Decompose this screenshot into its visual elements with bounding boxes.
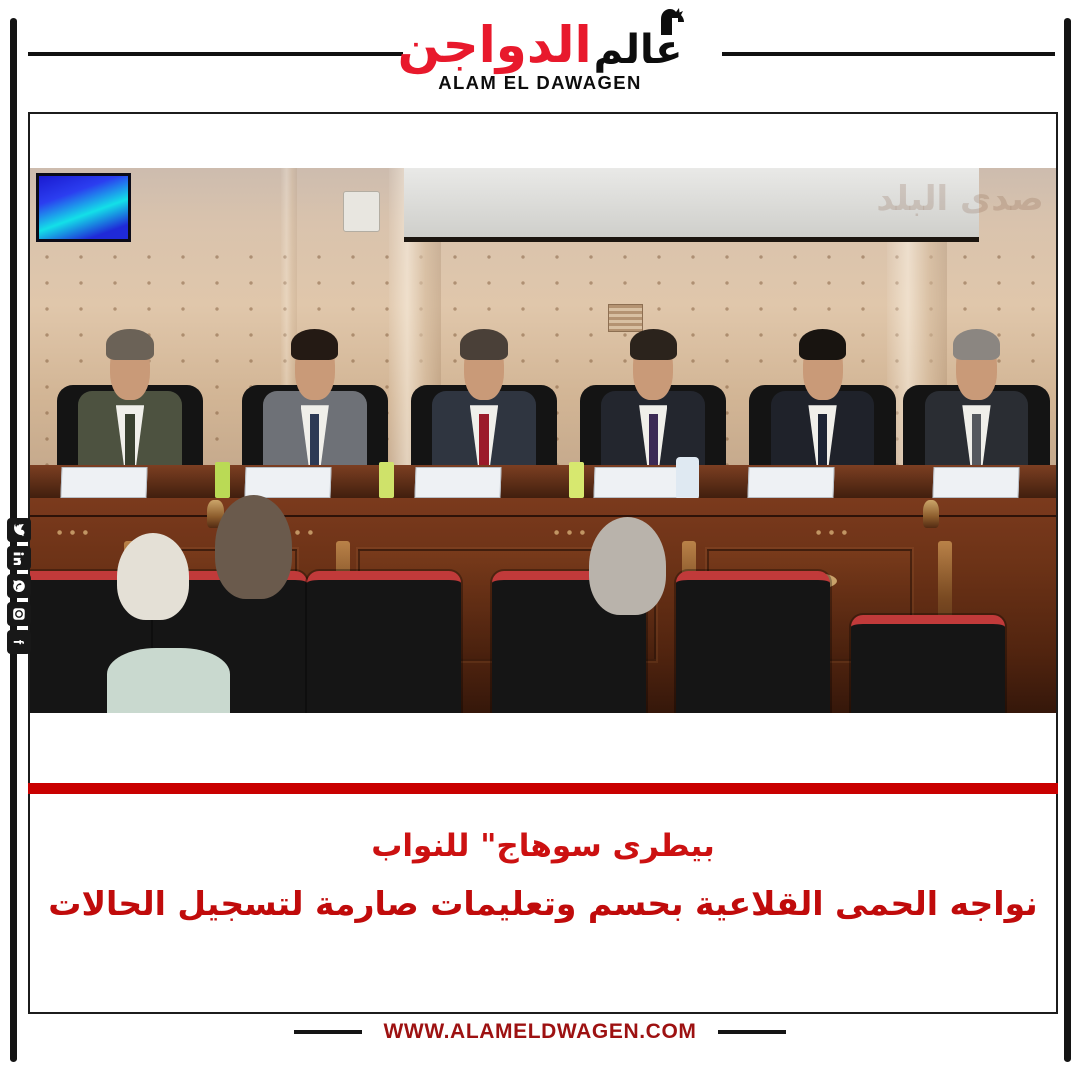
photo-audience-person — [117, 533, 189, 620]
brand-logo[interactable]: الدواجن عالم ALAM EL DAWAGEN — [390, 6, 690, 94]
right-frame-rail — [1064, 18, 1071, 1062]
footer-website-url[interactable]: WWW.ALAMELDWAGEN.COM — [384, 1020, 697, 1044]
footer: WWW.ALAMELDWAGEN.COM — [0, 1020, 1080, 1044]
photo-audience-person — [215, 495, 292, 599]
photo-sanitizer — [676, 457, 699, 501]
photo-bottle — [215, 462, 230, 497]
whatsapp-icon[interactable] — [7, 574, 31, 598]
social-post-card: الدواجن عالم ALAM EL DAWAGEN صدى ا — [0, 0, 1080, 1080]
photo-audience-person — [107, 648, 230, 713]
photo-bottle — [569, 462, 584, 497]
photo-panel-row — [30, 332, 1056, 474]
logo-latin-text: ALAM EL DAWAGEN — [390, 72, 690, 94]
photo-nameplate — [932, 467, 1019, 498]
photo-carving — [51, 526, 94, 539]
headline: بيطرى سوهاج" للنواب نواجه الحمى القلاعية… — [40, 826, 1046, 926]
instagram-icon[interactable] — [7, 602, 31, 626]
photo-watermark: صدى البلد — [876, 179, 1043, 219]
facebook-icon[interactable] — [7, 630, 31, 654]
photo-carving — [548, 526, 591, 539]
photo-nameplate — [594, 467, 681, 498]
footer-rule-left — [294, 1030, 362, 1034]
photo-dais-rail — [30, 498, 1056, 517]
chicken-silhouette-icon — [652, 6, 686, 36]
photo-official — [917, 332, 1035, 474]
photo-nameplate — [245, 467, 332, 498]
photo-audience-person — [589, 517, 666, 615]
article-photo: صدى البلد — [30, 168, 1056, 713]
photo-nameplate — [60, 467, 147, 498]
photo-speaker-box — [343, 191, 380, 232]
photo-official — [594, 332, 712, 474]
photo-nameplate — [748, 467, 835, 498]
photo-audience-chair — [851, 615, 1005, 713]
red-divider — [28, 783, 1058, 794]
photo-audience-chair — [307, 571, 461, 713]
photo-official — [764, 332, 882, 474]
logo-mark: الدواجن عالم — [390, 6, 690, 70]
twitter-icon[interactable] — [7, 518, 31, 542]
header-rule-right — [722, 52, 1055, 56]
headline-line-2: نواجه الحمى القلاعية بحسم وتعليمات صارمة… — [40, 882, 1046, 927]
photo-audience-chair — [676, 571, 830, 713]
photo-desk-top — [30, 465, 1056, 500]
headline-line-1: بيطرى سوهاج" للنواب — [40, 826, 1046, 868]
logo-arabic-black: عالم — [594, 16, 683, 70]
linkedin-icon[interactable] — [7, 546, 31, 570]
photo-nameplate — [414, 467, 501, 498]
photo-bottle — [379, 462, 394, 497]
header-rule-left — [28, 52, 403, 56]
photo-official — [256, 332, 374, 474]
photo-official — [425, 332, 543, 474]
photo-carving — [810, 526, 853, 539]
footer-rule-right — [718, 1030, 786, 1034]
logo-arabic-red: الدواجن — [398, 20, 592, 70]
photo-blue-display — [36, 173, 130, 241]
photo-finial — [923, 500, 939, 528]
photo-official — [71, 332, 189, 474]
photo-wall-vent — [608, 304, 643, 331]
header: الدواجن عالم ALAM EL DAWAGEN — [0, 0, 1080, 112]
social-links-rail[interactable] — [4, 518, 34, 654]
